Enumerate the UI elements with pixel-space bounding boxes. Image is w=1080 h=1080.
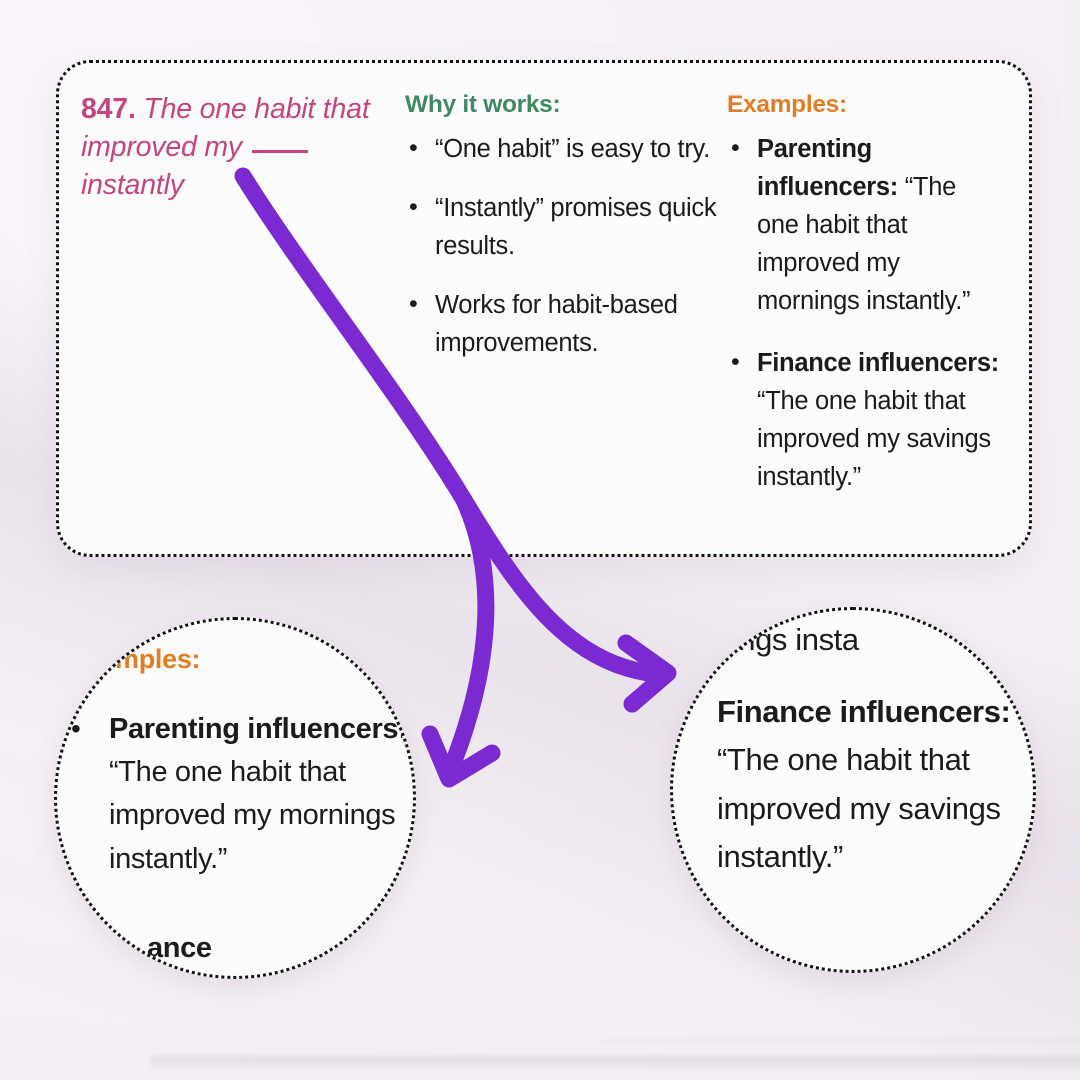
magnified-finance-label-clipped: ance: [147, 932, 212, 965]
magnified-finance-bullet: Finance influencers: “The one habit that…: [717, 688, 1036, 881]
why-it-works-list: “One habit” is easy to try. “Instantly” …: [405, 131, 727, 363]
list-item: “One habit” is easy to try.: [435, 131, 727, 169]
example-label: Finance influencers:: [757, 349, 999, 377]
page-bottom-shadow: [150, 1056, 1080, 1080]
example-quote: “The one habit that improved my savings …: [757, 387, 991, 491]
hook-blank-underline: [252, 150, 308, 153]
list-item: Parenting influencers: “The one habit th…: [757, 131, 1003, 321]
list-item: Works for habit-based improvements.: [435, 287, 727, 363]
examples-heading: Examples:: [727, 91, 1003, 119]
hook-text-after-blank: instantly: [81, 169, 184, 201]
magnified-examples-heading-clipped: mples:: [115, 644, 200, 675]
arrowhead-right: [626, 643, 668, 704]
examples-list: Parenting influencers: “The one habit th…: [727, 131, 1003, 497]
why-it-works-column: Why it works: “One habit” is easy to try…: [405, 91, 727, 554]
magnifier-circle-right: rnings insta Finance influencers: “The o…: [670, 607, 1036, 973]
hook-number: 847.: [81, 93, 136, 125]
list-item: “Instantly” promises quick results.: [435, 190, 727, 266]
hook-title-column: 847. The one habit that improved my inst…: [81, 91, 405, 554]
hook-title: 847. The one habit that improved my inst…: [81, 91, 399, 205]
example-quote: “The one habit that improved my savings …: [717, 742, 1001, 874]
list-item: Finance influencers: “The one habit that…: [757, 345, 1003, 497]
arrowhead-down: [430, 734, 492, 779]
why-it-works-heading: Why it works:: [405, 91, 727, 119]
example-quote: “The one habit that improved my mornings…: [109, 756, 395, 874]
examples-column: Examples: Parenting influencers: “The on…: [727, 91, 1003, 554]
example-label: Finance influencers:: [717, 694, 1010, 729]
page-edge-highlight: [600, 1040, 1080, 1044]
example-label: Parenting influencers:: [757, 135, 898, 201]
example-label: Parenting influencers:: [109, 713, 407, 745]
hook-card: 847. The one habit that improved my inst…: [56, 60, 1032, 557]
magnified-parenting-bullet: Parenting influencers: “The one habit th…: [75, 708, 416, 881]
magnifier-circle-left: mples: Parenting influencers: “The one h…: [54, 617, 416, 979]
magnified-mornings-line-clipped: rnings insta: [705, 618, 859, 663]
canvas: 847. The one habit that improved my inst…: [0, 0, 1080, 1080]
